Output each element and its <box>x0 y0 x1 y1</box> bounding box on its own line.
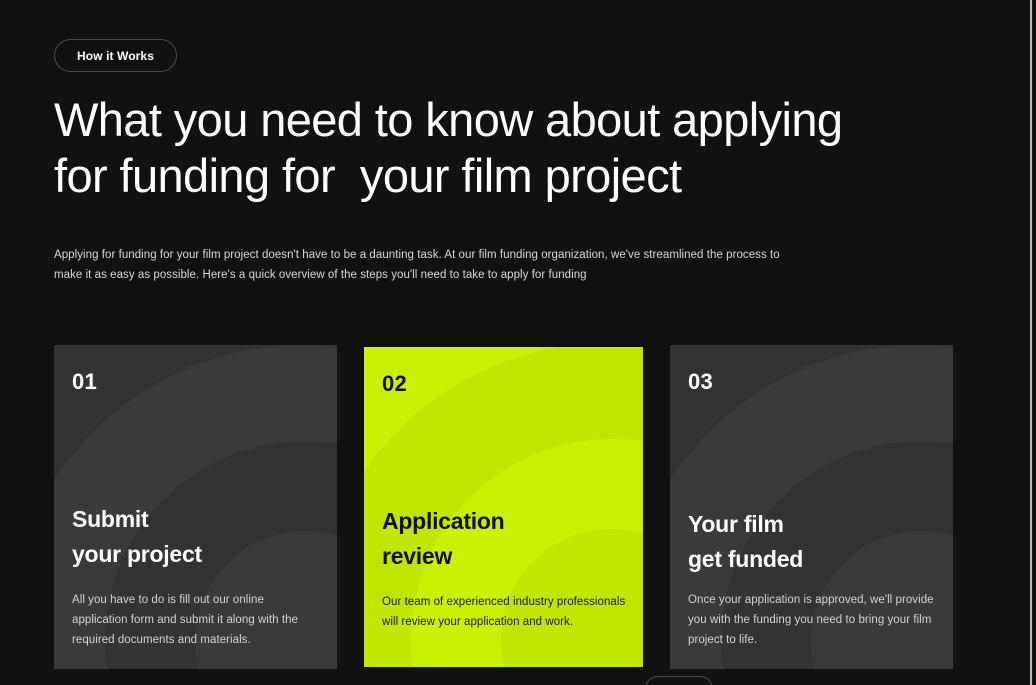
page-title: What you need to know about applying for… <box>54 92 954 204</box>
step-description: Our team of experienced industry profess… <box>382 592 632 632</box>
step-card-01[interactable]: 01 Submit your project All you have to d… <box>54 345 337 669</box>
vertical-scrollbar[interactable] <box>1030 0 1033 685</box>
how-it-works-badge[interactable]: How it Works <box>54 39 177 72</box>
step-number: 01 <box>72 369 97 395</box>
step-card-03[interactable]: 03 Your film get funded Once your applic… <box>670 345 953 669</box>
step-title: Your film get funded <box>688 507 803 577</box>
step-number: 03 <box>688 369 713 395</box>
steps-card-list: 01 Submit your project All you have to d… <box>54 345 952 669</box>
badge-label: How it Works <box>77 49 154 63</box>
step-title: Submit your project <box>72 502 202 572</box>
step-card-02[interactable]: 02 Application review Our team of experi… <box>362 345 645 669</box>
intro-paragraph: Applying for funding for your film proje… <box>54 245 784 285</box>
step-description: All you have to do is fill out our onlin… <box>72 590 322 650</box>
step-description: Once your application is approved, we'll… <box>688 590 938 650</box>
step-number: 02 <box>382 371 407 397</box>
page-root: How it Works What you need to know about… <box>0 0 1033 685</box>
below-fold-pill-button[interactable] <box>645 676 713 685</box>
step-title: Application review <box>382 504 504 574</box>
